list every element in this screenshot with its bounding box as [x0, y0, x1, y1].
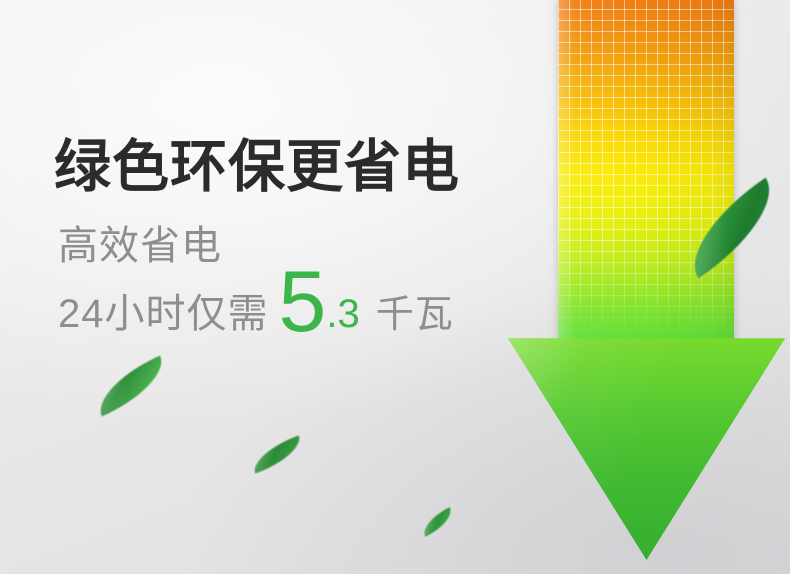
stat-unit-label: 千瓦 — [376, 292, 454, 338]
energy-saving-promo-poster: 绿色环保更省电 高效省电 24小时仅需 5 .3 千瓦 — [0, 0, 790, 574]
leaf-icon-small — [418, 507, 456, 537]
stat-line: 24小时仅需 5 .3 千瓦 — [58, 275, 484, 338]
headline: 绿色环保更省电 — [54, 133, 484, 201]
arrow-shaft-shading — [558, 0, 734, 346]
stat-decimal: .3 — [326, 291, 359, 337]
arrow-head-highlight — [505, 336, 788, 560]
stat-prefix-label: 24小时仅需 — [58, 291, 269, 337]
leaf-icon-left-big — [89, 356, 173, 417]
arrow-grid-overlay — [558, 0, 734, 346]
arrow-shaft — [558, 0, 734, 346]
arrow-head — [505, 336, 788, 560]
leaf-icon-right — [673, 178, 790, 279]
copy-block: 绿色环保更省电 高效省电 24小时仅需 5 .3 千瓦 — [54, 133, 484, 338]
subheadline: 高效省电 — [58, 223, 484, 269]
leaf-icon-mid — [248, 435, 306, 473]
stat-value: 5 — [279, 279, 327, 325]
